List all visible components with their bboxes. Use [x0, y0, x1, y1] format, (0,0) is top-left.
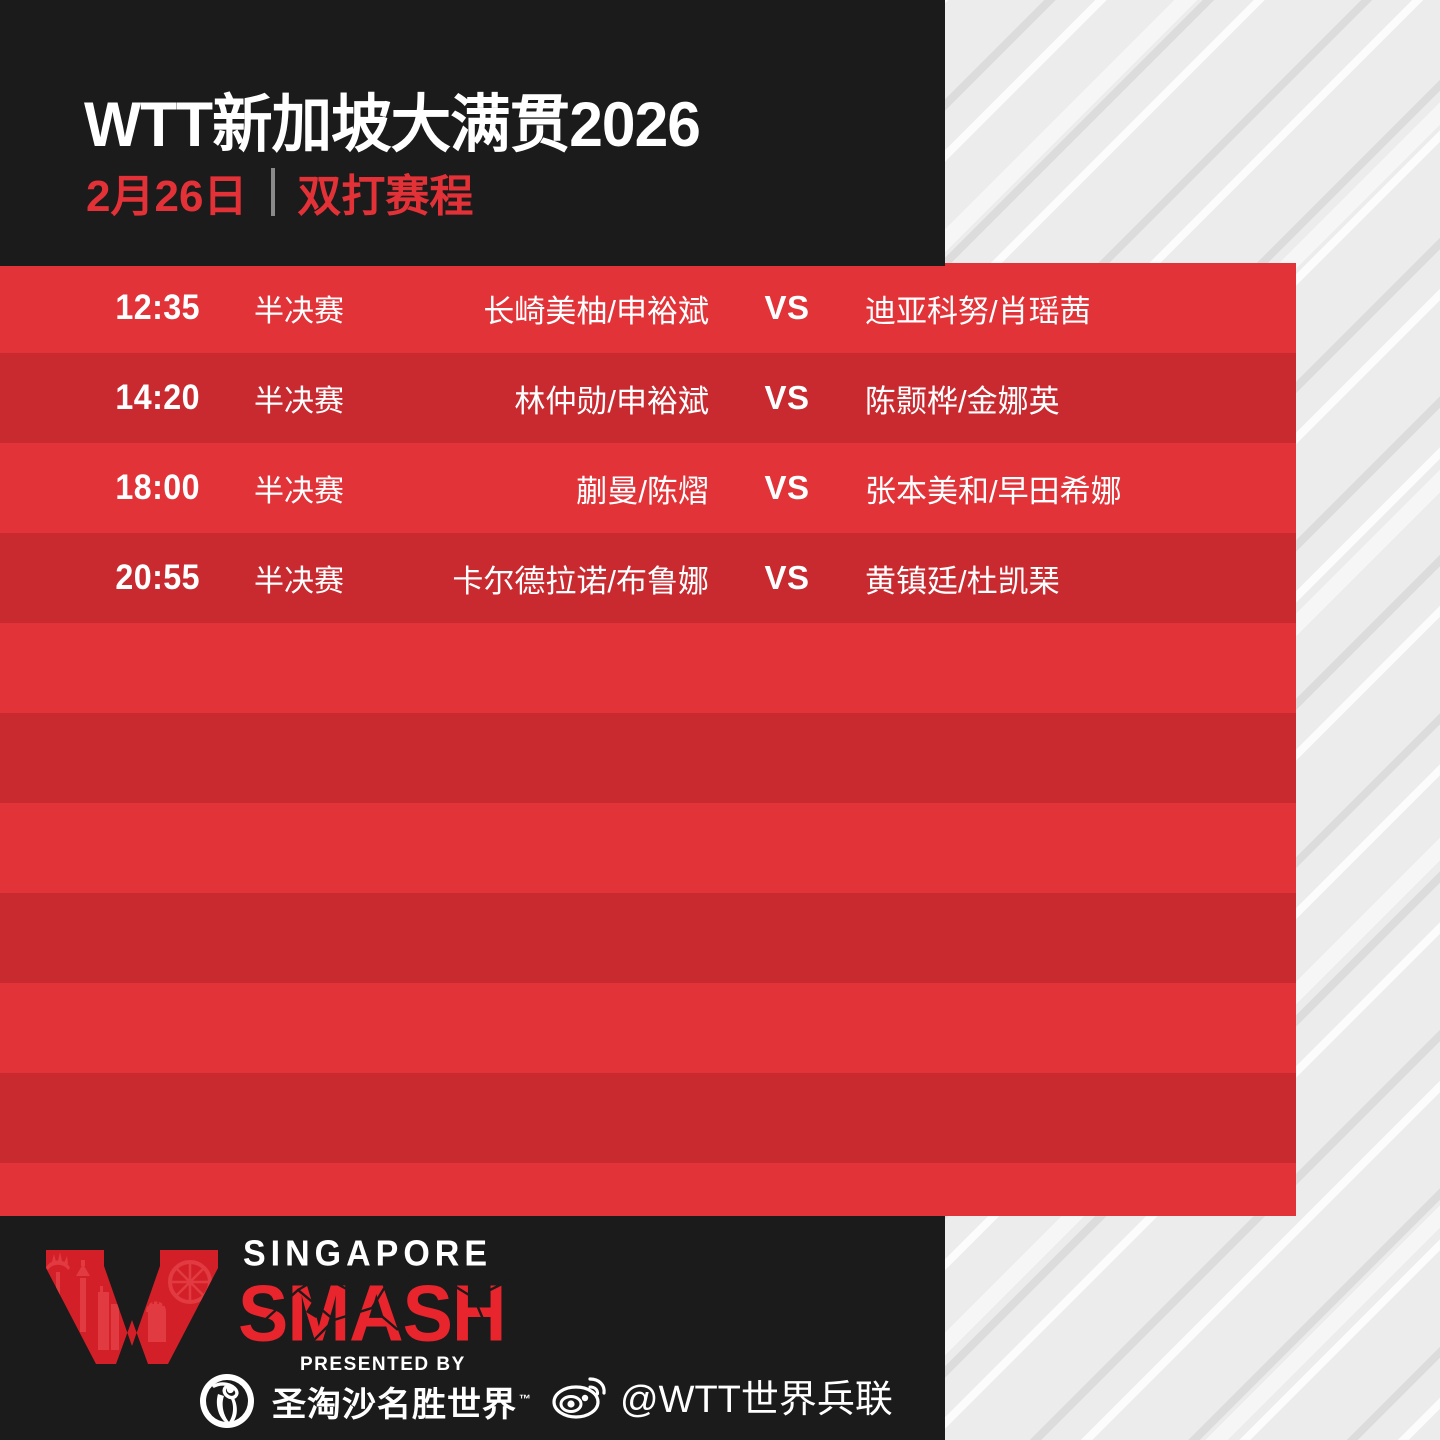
singapore-smash-logo: SINGAPORE SMASH PRESENTED BY — [42, 1232, 542, 1382]
sponsor-name: 圣淘沙名胜世界™ — [272, 1377, 532, 1426]
vs-label: VS — [717, 469, 857, 507]
match-row[interactable]: 12:35半决赛长崎美柚/申裕斌VS迪亚科努/肖瑶茜 — [0, 263, 1296, 353]
vs-label: VS — [717, 289, 857, 327]
page-title: WTT新加坡大满贯2026 — [84, 74, 700, 165]
vs-label: VS — [717, 379, 857, 417]
sponsor-name-text: 圣淘沙名胜世界 — [272, 1386, 517, 1424]
sponsor-resorts-world-sentosa: 圣淘沙名胜世界™ — [198, 1372, 532, 1430]
match-home-players: 林仲勋/申裕斌 — [374, 376, 717, 421]
smash-wordmark: SINGAPORE SMASH PRESENTED BY — [238, 1232, 548, 1380]
row-stripe — [0, 713, 1296, 803]
weibo-handle: @WTT世界兵联 — [620, 1368, 893, 1423]
weibo-handle-group[interactable]: @WTT世界兵联 — [552, 1368, 893, 1423]
event-type-label: 双打赛程 — [297, 160, 473, 224]
match-time: 12:35 — [16, 288, 200, 328]
header-banner: WTT新加坡大满贯2026 2月26日 双打赛程 — [0, 0, 945, 266]
match-away-players: 黄镇廷/杜凯琹 — [857, 556, 1285, 601]
schedule-panel: 12:35半决赛长崎美柚/申裕斌VS迪亚科努/肖瑶茜14:20半决赛林仲勋/申裕… — [0, 263, 1296, 1216]
weibo-icon — [552, 1373, 608, 1419]
smash-w-skyline-icon — [42, 1246, 222, 1368]
match-row[interactable]: 14:20半决赛林仲勋/申裕斌VS陈颢桦/金娜英 — [0, 353, 1296, 443]
trademark-symbol: ™ — [519, 1392, 532, 1406]
match-stage: 半决赛 — [224, 376, 374, 420]
match-away-players: 迪亚科努/肖瑶茜 — [857, 286, 1285, 331]
match-row[interactable]: 18:00半决赛蒯曼/陈熠VS张本美和/早田希娜 — [0, 443, 1296, 533]
match-home-players: 卡尔德拉诺/布鲁娜 — [374, 556, 717, 601]
match-time: 14:20 — [16, 378, 200, 418]
match-away-players: 张本美和/早田希娜 — [857, 466, 1285, 511]
match-home-players: 蒯曼/陈熠 — [374, 466, 717, 511]
rws-circle-icon — [198, 1372, 256, 1430]
row-stripe — [0, 1073, 1296, 1163]
match-home-players: 长崎美柚/申裕斌 — [374, 286, 717, 331]
smash-word: SMASH — [238, 1267, 505, 1359]
match-away-players: 陈颢桦/金娜英 — [857, 376, 1285, 421]
match-stage: 半决赛 — [224, 466, 374, 510]
vs-label: VS — [717, 559, 857, 597]
header-divider — [271, 168, 275, 216]
row-stripe — [0, 893, 1296, 983]
match-row[interactable]: 20:55半决赛卡尔德拉诺/布鲁娜VS黄镇廷/杜凯琹 — [0, 533, 1296, 623]
match-stage: 半决赛 — [224, 556, 374, 600]
match-stage: 半决赛 — [224, 286, 374, 330]
schedule-date: 2月26日 — [86, 160, 247, 224]
match-time: 20:55 — [16, 558, 200, 598]
match-time: 18:00 — [16, 468, 200, 508]
header-subline: 2月26日 双打赛程 — [86, 160, 473, 224]
